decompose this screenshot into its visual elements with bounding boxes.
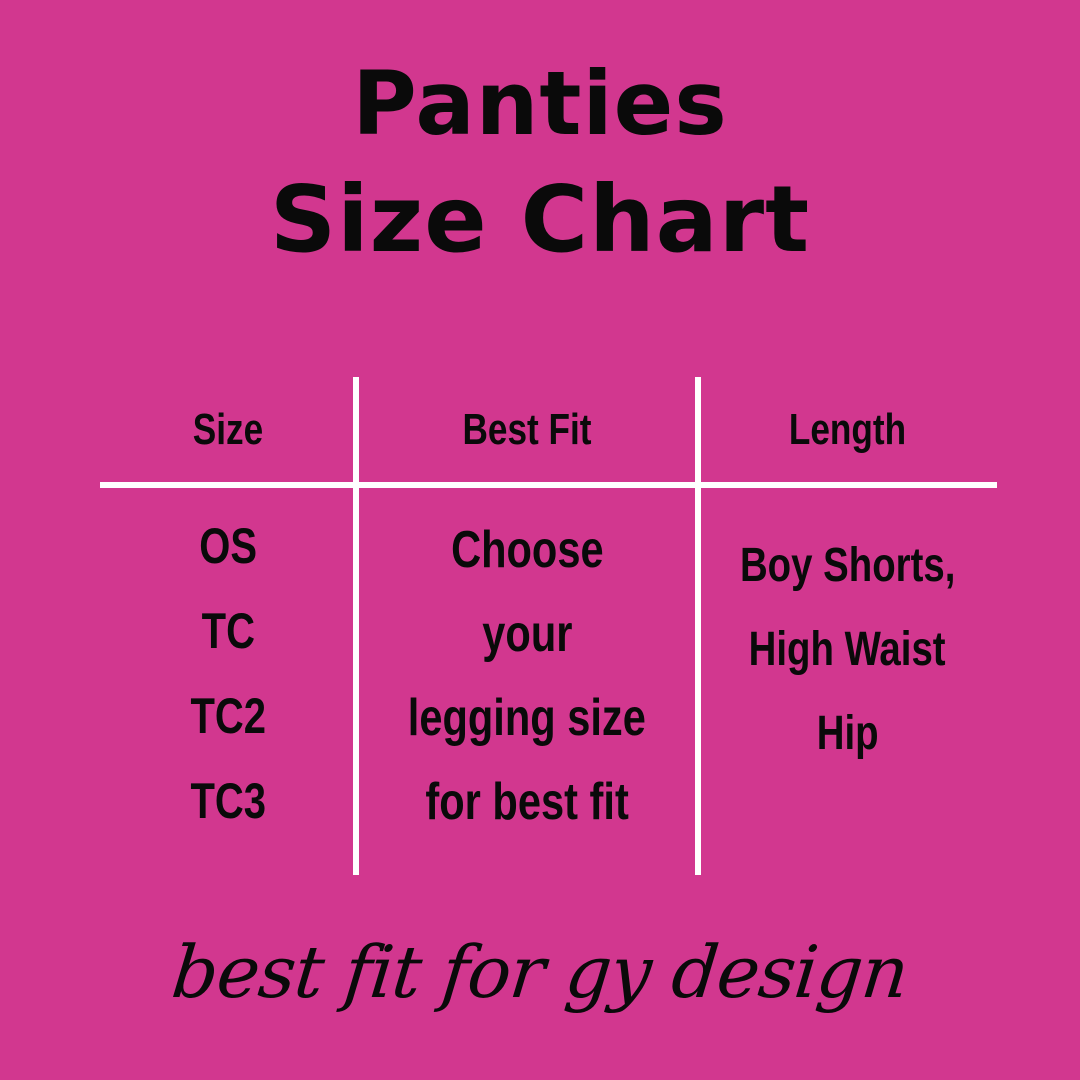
- length-line: Boy Shorts,: [740, 524, 956, 608]
- size-value: TC3: [190, 759, 266, 844]
- length-line: High Waist: [749, 608, 946, 692]
- column-header-best-fit: Best Fit: [390, 377, 664, 482]
- size-value: TC2: [190, 674, 266, 759]
- footer-signature: best fit for gy design: [0, 930, 1080, 1014]
- column-body-size: OS TC TC2 TC3: [100, 488, 356, 875]
- size-value: TC: [201, 589, 254, 674]
- column-body-length: Boy Shorts, High Waist Hip: [698, 488, 997, 875]
- column-body-best-fit: Choose your legging size for best fit: [356, 488, 698, 875]
- best-fit-line: for best fit: [425, 760, 628, 844]
- length-line: Hip: [817, 692, 879, 776]
- size-value: OS: [199, 504, 257, 589]
- page-title: Panties Size Chart: [0, 58, 1080, 267]
- best-fit-line: legging size: [408, 676, 646, 760]
- best-fit-line: Choose: [451, 508, 604, 592]
- table-body-row: OS TC TC2 TC3 Choose your legging size f…: [100, 488, 997, 875]
- table-header-row: Size Best Fit Length: [100, 377, 997, 482]
- size-chart-table: Size Best Fit Length OS TC TC2 TC3 Choos…: [100, 377, 997, 877]
- best-fit-line: your: [482, 592, 572, 676]
- column-header-length: Length: [728, 377, 967, 482]
- column-header-size: Size: [126, 377, 331, 482]
- size-chart-graphic: { "theme": { "background_color": "#d2378…: [0, 0, 1080, 1080]
- title-line-product: Panties: [0, 58, 1080, 150]
- title-line-chart: Size Chart: [0, 172, 1080, 268]
